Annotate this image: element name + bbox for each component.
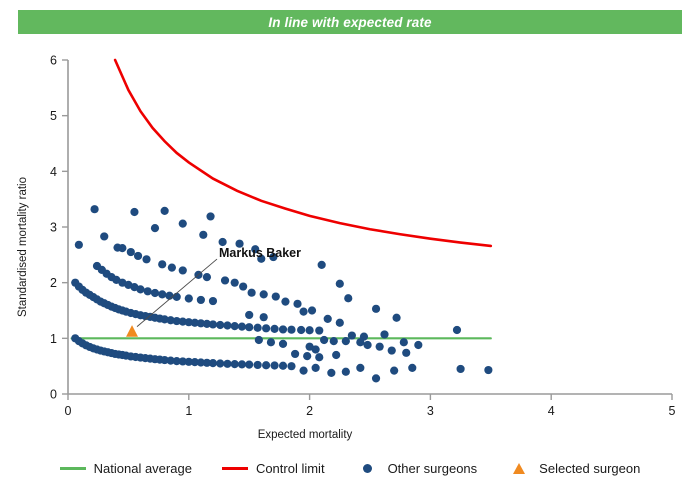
surgeon-data-point[interactable] <box>209 297 217 305</box>
y-tick-label: 6 <box>50 54 57 68</box>
surgeon-data-point[interactable] <box>291 350 299 358</box>
x-tick-label: 0 <box>65 404 72 418</box>
legend-label: National average <box>94 461 192 476</box>
surgeon-data-point[interactable] <box>238 323 246 331</box>
legend-label: Control limit <box>256 461 325 476</box>
banner-title: In line with expected rate <box>268 15 431 30</box>
surgeon-data-point[interactable] <box>303 352 311 360</box>
surgeon-data-point[interactable] <box>299 367 307 375</box>
surgeon-data-point[interactable] <box>248 289 256 297</box>
surgeon-data-point[interactable] <box>342 368 350 376</box>
selected-surgeon-label: Markus Baker <box>219 246 301 260</box>
surgeon-data-point[interactable] <box>130 208 138 216</box>
status-banner: In line with expected rate <box>18 10 682 34</box>
surgeon-data-point[interactable] <box>199 231 207 239</box>
surgeon-data-point[interactable] <box>279 325 287 333</box>
surgeon-data-point[interactable] <box>376 343 384 351</box>
surgeon-data-point[interactable] <box>260 290 268 298</box>
legend-item[interactable]: Other surgeons <box>355 461 478 476</box>
surgeon-data-point[interactable] <box>197 296 205 304</box>
surgeon-data-point[interactable] <box>158 290 166 298</box>
surgeon-data-point[interactable] <box>239 282 247 290</box>
surgeon-data-point[interactable] <box>209 359 217 367</box>
surgeon-data-point[interactable] <box>255 336 263 344</box>
surgeon-data-point[interactable] <box>161 207 169 215</box>
y-tick-label: 2 <box>50 276 57 290</box>
surgeon-data-point[interactable] <box>231 360 239 368</box>
surgeon-data-point[interactable] <box>100 232 108 240</box>
chart-legend: National averageControl limitOther surge… <box>0 448 700 488</box>
surgeon-data-point[interactable] <box>223 360 231 368</box>
surgeon-data-point[interactable] <box>281 297 289 305</box>
legend-triangle-swatch-icon <box>513 463 525 474</box>
surgeon-data-point[interactable] <box>136 285 144 293</box>
legend-dot-swatch-icon <box>363 464 372 473</box>
surgeon-data-point[interactable] <box>388 346 396 354</box>
data-series <box>71 60 492 383</box>
surgeon-data-point[interactable] <box>158 260 166 268</box>
y-axis-title: Standardised mortality ratio <box>17 177 29 317</box>
surgeon-data-point[interactable] <box>127 248 135 256</box>
surgeon-data-point[interactable] <box>221 276 229 284</box>
surgeon-data-point[interactable] <box>262 324 270 332</box>
surgeon-data-point[interactable] <box>293 300 301 308</box>
surgeon-data-point[interactable] <box>402 349 410 357</box>
y-tick-label: 5 <box>50 109 57 123</box>
surgeon-data-point[interactable] <box>270 325 278 333</box>
surgeon-data-point[interactable] <box>356 364 364 372</box>
surgeon-data-point[interactable] <box>308 306 316 314</box>
surgeon-data-point[interactable] <box>408 364 416 372</box>
scatter-plot-svg: 0123456012345 Markus Baker Expected mort… <box>0 40 700 440</box>
surgeon-data-point[interactable] <box>315 353 323 361</box>
surgeon-data-point[interactable] <box>75 241 83 249</box>
surgeon-data-point[interactable] <box>144 287 152 295</box>
surgeon-data-point[interactable] <box>216 359 224 367</box>
surgeon-data-point[interactable] <box>179 266 187 274</box>
annotations: Markus Baker <box>137 246 301 327</box>
surgeon-data-point[interactable] <box>327 369 335 377</box>
legend-item[interactable]: Control limit <box>222 461 325 476</box>
surgeon-data-point[interactable] <box>336 280 344 288</box>
surgeon-data-point[interactable] <box>262 361 270 369</box>
surgeon-data-point[interactable] <box>299 308 307 316</box>
surgeon-data-point[interactable] <box>142 255 150 263</box>
surgeon-data-point[interactable] <box>238 360 246 368</box>
surgeon-data-point[interactable] <box>267 338 275 346</box>
control-limit-line <box>115 60 491 246</box>
surgeon-data-point[interactable] <box>151 289 159 297</box>
surgeon-data-point[interactable] <box>356 338 364 346</box>
surgeon-data-point[interactable] <box>216 321 224 329</box>
surgeon-data-point[interactable] <box>348 331 356 339</box>
surgeon-data-point[interactable] <box>315 326 323 334</box>
surgeon-data-point[interactable] <box>380 330 388 338</box>
surgeon-data-point[interactable] <box>400 338 408 346</box>
y-tick-label: 1 <box>50 332 57 346</box>
surgeon-data-point[interactable] <box>324 315 332 323</box>
surgeon-data-point[interactable] <box>372 305 380 313</box>
x-tick-label: 2 <box>306 404 313 418</box>
surgeon-data-point[interactable] <box>260 313 268 321</box>
surgeon-data-point[interactable] <box>90 205 98 213</box>
surgeon-data-point[interactable] <box>306 326 314 334</box>
x-tick-label: 3 <box>427 404 434 418</box>
surgeon-data-point[interactable] <box>330 337 338 345</box>
surgeon-data-point[interactable] <box>231 322 239 330</box>
surgeon-data-point[interactable] <box>245 311 253 319</box>
surgeon-data-point[interactable] <box>254 324 262 332</box>
surgeon-data-point[interactable] <box>209 320 217 328</box>
surgeon-data-point[interactable] <box>414 341 422 349</box>
surgeon-data-point[interactable] <box>165 292 173 300</box>
surgeon-data-point[interactable] <box>390 367 398 375</box>
surgeon-data-point[interactable] <box>254 361 262 369</box>
selected-surgeon-marker[interactable] <box>126 325 138 337</box>
legend-label: Selected surgeon <box>539 461 640 476</box>
funnel-plot-page: In line with expected rate 0123456012345… <box>0 0 700 500</box>
surgeon-data-point[interactable] <box>336 319 344 327</box>
surgeon-data-point[interactable] <box>279 362 287 370</box>
y-tick-label: 0 <box>50 388 57 402</box>
surgeon-data-point[interactable] <box>297 326 305 334</box>
legend-label: Other surgeons <box>388 461 478 476</box>
x-tick-label: 1 <box>185 404 192 418</box>
surgeon-data-point[interactable] <box>287 326 295 334</box>
y-tick-label: 4 <box>50 165 57 179</box>
surgeon-data-point[interactable] <box>113 244 121 252</box>
x-tick-label: 4 <box>548 404 555 418</box>
surgeon-data-point[interactable] <box>453 326 461 334</box>
surgeon-data-point[interactable] <box>484 366 492 374</box>
surgeon-data-point[interactable] <box>173 293 181 301</box>
surgeon-data-point[interactable] <box>320 336 328 344</box>
surgeon-data-point[interactable] <box>245 323 253 331</box>
legend-line-swatch-icon <box>222 467 248 470</box>
surgeon-data-point[interactable] <box>457 365 465 373</box>
surgeon-data-point[interactable] <box>363 341 371 349</box>
x-axis-title: Expected mortality <box>258 429 353 441</box>
surgeon-data-point[interactable] <box>270 361 278 369</box>
surgeon-data-point[interactable] <box>332 351 340 359</box>
legend-line-swatch-icon <box>60 467 86 470</box>
surgeon-data-point[interactable] <box>312 364 320 372</box>
surgeon-data-point[interactable] <box>245 361 253 369</box>
surgeon-data-point[interactable] <box>318 261 326 269</box>
chart-canvas: 0123456012345 Markus Baker Expected mort… <box>0 40 700 440</box>
surgeon-data-point[interactable] <box>134 252 142 260</box>
surgeon-data-point[interactable] <box>287 362 295 370</box>
surgeon-data-point[interactable] <box>344 294 352 302</box>
surgeon-data-point[interactable] <box>342 337 350 345</box>
legend-item[interactable]: Selected surgeon <box>507 461 640 476</box>
surgeon-data-point[interactable] <box>392 314 400 322</box>
surgeon-data-point[interactable] <box>223 321 231 329</box>
y-tick-label: 3 <box>50 221 57 235</box>
surgeon-data-point[interactable] <box>203 273 211 281</box>
surgeon-data-point[interactable] <box>279 340 287 348</box>
surgeon-data-point[interactable] <box>272 292 280 300</box>
surgeon-data-point[interactable] <box>219 238 227 246</box>
surgeon-data-point[interactable] <box>151 224 159 232</box>
axes: 0123456012345 <box>50 54 675 419</box>
x-tick-label: 5 <box>669 404 676 418</box>
surgeon-data-point[interactable] <box>179 220 187 228</box>
surgeon-data-point[interactable] <box>168 264 176 272</box>
surgeon-data-point[interactable] <box>372 374 380 382</box>
surgeon-data-point[interactable] <box>185 294 193 302</box>
surgeon-data-point[interactable] <box>312 345 320 353</box>
surgeon-data-point[interactable] <box>231 279 239 287</box>
legend-item[interactable]: National average <box>60 461 192 476</box>
surgeon-data-point[interactable] <box>206 212 214 220</box>
